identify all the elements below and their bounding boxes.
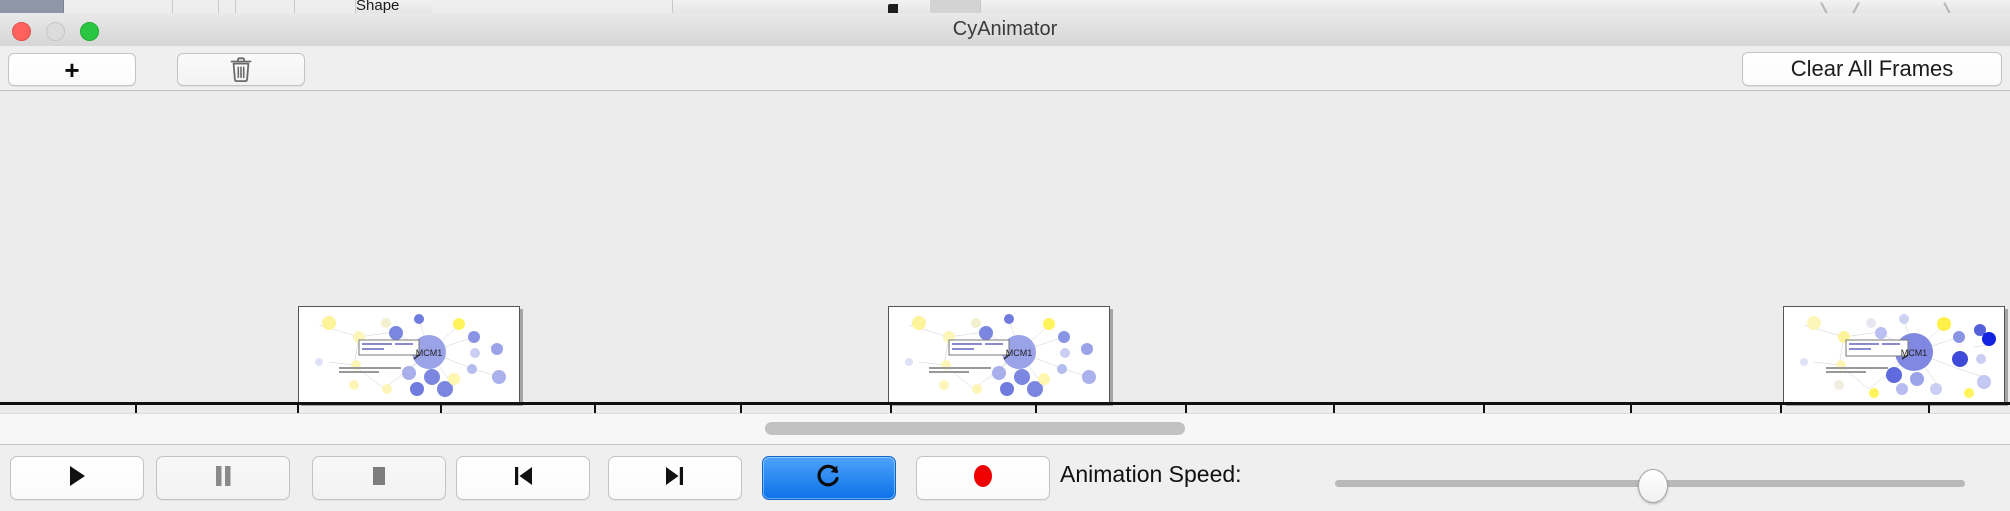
bg-tab [236, 0, 295, 13]
trash-icon [229, 56, 253, 83]
delete-frame-button[interactable] [177, 53, 305, 86]
record-icon [971, 463, 995, 494]
control-bar: Animation Speed: [0, 444, 2010, 511]
bg-tab [295, 0, 356, 13]
axis-tick-minor [1630, 405, 1632, 413]
scrollbar-thumb[interactable] [765, 422, 1185, 435]
axis-tick-major [594, 405, 596, 413]
timeline-axis [0, 402, 2010, 405]
skip-previous-icon [512, 464, 534, 493]
timeline-panel[interactable]: MCM1 [0, 91, 2010, 413]
window-title: CyAnimator [0, 13, 2010, 46]
timeline-frame-thumbnail[interactable]: MCM1 [298, 306, 520, 403]
bg-tab [930, 0, 981, 13]
stop-icon [369, 464, 389, 493]
axis-tick-minor [1333, 405, 1335, 413]
animation-speed-label: Animation Speed: [1060, 461, 1242, 488]
skip-next-icon [664, 464, 686, 493]
axis-tick-minor [1928, 405, 1930, 413]
bg-tab [432, 0, 673, 13]
axis-tick-major [297, 405, 299, 413]
axis-tick-minor [440, 405, 442, 413]
axis-tick-major [1780, 405, 1782, 413]
background-window-strip: Shape [0, 0, 2010, 14]
bg-marker-icon [888, 4, 898, 13]
toolbar: + Clear All Frames [0, 46, 2010, 91]
axis-tick-minor [740, 405, 742, 413]
svg-text:MCM1: MCM1 [416, 348, 443, 358]
title-bar: CyAnimator [0, 13, 2010, 47]
axis-tick-major [1483, 405, 1485, 413]
axis-tick-minor [135, 405, 137, 413]
stop-button[interactable] [312, 456, 446, 500]
bg-tab [64, 0, 173, 13]
previous-frame-button[interactable] [456, 456, 590, 500]
svg-text:MCM1: MCM1 [1006, 348, 1033, 358]
animation-speed-slider-knob[interactable] [1638, 469, 1668, 503]
bg-tab-selected [0, 0, 64, 13]
cyanimator-window: Shape CyAnimator + [0, 0, 2010, 510]
bg-tab [173, 0, 219, 13]
axis-tick-major [890, 405, 892, 413]
clear-all-frames-label: Clear All Frames [1791, 56, 1954, 82]
add-frame-button[interactable]: + [8, 53, 136, 86]
scrollbar-track[interactable] [0, 413, 2010, 445]
loop-button[interactable] [762, 456, 896, 500]
next-frame-button[interactable] [608, 456, 742, 500]
pause-icon [213, 464, 233, 493]
pause-button[interactable] [156, 456, 290, 500]
background-window-label: Shape [356, 0, 399, 14]
axis-tick-minor [1035, 405, 1037, 413]
record-button[interactable] [916, 456, 1050, 500]
plus-icon: + [64, 57, 79, 83]
play-button[interactable] [10, 456, 144, 500]
svg-text:MCM1: MCM1 [1901, 348, 1928, 358]
timeline-frame-thumbnail[interactable]: MCM1 [888, 306, 1110, 403]
bg-tab [219, 0, 236, 13]
play-icon [66, 464, 88, 493]
loop-icon [816, 462, 842, 495]
axis-tick-major [1185, 405, 1187, 413]
timeline-frame-thumbnail[interactable]: MCM1 [1783, 306, 2005, 403]
clear-all-frames-button[interactable]: Clear All Frames [1742, 52, 2002, 86]
